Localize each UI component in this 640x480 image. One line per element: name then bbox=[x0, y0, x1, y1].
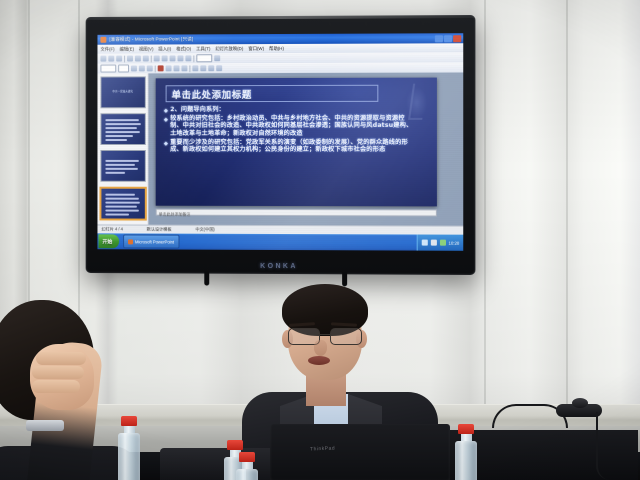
slide-bullet-2-text: 较系统的研究包括：乡村政治动员、中共与乡村地方社会、中共的资源提取与资源控制、中… bbox=[170, 115, 415, 137]
slide-bullet-1-text: 2、问题导向系列： bbox=[170, 106, 225, 113]
bottle-neck bbox=[461, 434, 472, 441]
finger bbox=[32, 366, 84, 379]
maximize-button[interactable] bbox=[444, 35, 452, 42]
slide-thumbnail-4[interactable] bbox=[99, 187, 146, 221]
undo-icon[interactable] bbox=[177, 55, 183, 61]
underline-icon[interactable] bbox=[147, 65, 153, 71]
save-icon[interactable] bbox=[116, 56, 122, 62]
windows-taskbar[interactable]: 开始 Microsoft PowerPoint 10:28 bbox=[97, 233, 463, 250]
menu-item-format[interactable]: 格式(O) bbox=[176, 46, 191, 52]
new-slide-button[interactable] bbox=[216, 65, 222, 71]
start-button-label: 开始 bbox=[102, 238, 112, 245]
finger bbox=[32, 380, 80, 393]
powerpoint-window-title: [兼容模式] - Microsoft PowerPoint [只读] bbox=[109, 36, 193, 42]
bottle-neck bbox=[124, 426, 135, 433]
slide-thumbnail-1-label: 中共一党独大研究 bbox=[101, 89, 144, 93]
listener-hand bbox=[30, 344, 94, 410]
spellcheck-icon[interactable] bbox=[143, 55, 149, 61]
font-size-combobox[interactable] bbox=[118, 64, 129, 72]
print-icon[interactable] bbox=[127, 56, 133, 62]
zoom-combobox[interactable] bbox=[196, 54, 212, 62]
slide-body-placeholder[interactable]: 2、问题导向系列： 较系统的研究包括：乡村政治动员、中共与乡村地方社会、中共的资… bbox=[165, 106, 415, 155]
toolbar-separator bbox=[193, 55, 194, 62]
toolbar-separator bbox=[151, 55, 152, 62]
tray-volume-icon[interactable] bbox=[421, 240, 427, 246]
slide-title-text: 单击此处添加标题 bbox=[172, 87, 252, 101]
bottle-cap bbox=[121, 416, 137, 426]
bullets-icon[interactable] bbox=[181, 65, 187, 71]
paste-icon[interactable] bbox=[170, 55, 176, 61]
minimize-button[interactable] bbox=[435, 35, 443, 42]
slide-thumbnail-3[interactable] bbox=[100, 150, 145, 182]
slide-bullet-2: 较系统的研究包括：乡村政治动员、中共与乡村地方社会、中共的资源提取与资源控制、中… bbox=[165, 115, 415, 137]
bottle-cap bbox=[227, 440, 243, 450]
slide-editor-area[interactable]: 单击此处添加标题 2、问题导向系列： 较系统的研究包括：乡村政治动员、中共与乡村… bbox=[149, 72, 463, 234]
slide-bullet-3-text: 重要而少涉及的研究包括：党政军关系的演变（如政委制的发展）、党的群众路线的形成、… bbox=[170, 139, 415, 154]
design-button[interactable] bbox=[208, 65, 214, 71]
slide-thumbnail-1[interactable]: 中共一党独大研究 bbox=[100, 76, 145, 108]
bold-icon[interactable] bbox=[131, 65, 137, 71]
decrease-font-icon[interactable] bbox=[200, 65, 206, 71]
taskbar-clock[interactable]: 10:28 bbox=[449, 240, 460, 245]
font-color-icon[interactable] bbox=[158, 65, 164, 71]
bottle-neck bbox=[242, 462, 253, 469]
tray-antivirus-icon[interactable] bbox=[439, 240, 445, 246]
status-design-template: 默认设计模板 bbox=[147, 227, 172, 233]
speaker-mouth bbox=[308, 356, 330, 365]
status-slide-counter: 幻灯片 4 / 4 bbox=[101, 226, 123, 232]
current-slide[interactable]: 单击此处添加标题 2、问题导向系列： 较系统的研究包括：乡村政治动员、中共与乡村… bbox=[156, 78, 437, 207]
screenshot-root: KONKA [兼容模式] - Microsoft PowerPoint [只读]… bbox=[0, 0, 640, 480]
increase-font-icon[interactable] bbox=[192, 65, 198, 71]
toolbar-separator bbox=[189, 65, 190, 72]
water-bottle bbox=[118, 416, 140, 480]
eyeglass-lens-right bbox=[330, 328, 362, 345]
bottle-cap bbox=[458, 424, 474, 434]
powerpoint-taskbar-icon bbox=[128, 239, 133, 244]
toolbar-separator bbox=[155, 65, 156, 72]
menu-item-view[interactable]: 视图(V) bbox=[139, 46, 153, 52]
toolbar-separator bbox=[124, 55, 125, 62]
notes-pane[interactable]: 单击此处添加备注 bbox=[156, 209, 437, 217]
system-tray[interactable]: 10:28 bbox=[416, 234, 463, 250]
start-button[interactable]: 开始 bbox=[98, 234, 119, 248]
print-preview-icon[interactable] bbox=[135, 56, 141, 62]
laptop-logo: ThinkPad bbox=[310, 446, 335, 453]
new-file-icon[interactable] bbox=[100, 56, 106, 62]
slide-bullet-1: 2、问题导向系列： bbox=[165, 106, 415, 114]
microphone-knob bbox=[572, 398, 588, 408]
tv-bezel-highlight bbox=[86, 15, 476, 20]
menu-item-slideshow[interactable]: 幻灯片放映(D) bbox=[215, 46, 243, 52]
menu-item-edit[interactable]: 编辑(E) bbox=[120, 46, 134, 52]
help-icon[interactable] bbox=[214, 55, 220, 61]
close-button[interactable] bbox=[453, 35, 461, 42]
status-language: 中文(中国) bbox=[195, 227, 214, 233]
laptop: ThinkPad bbox=[270, 424, 450, 480]
align-left-icon[interactable] bbox=[166, 65, 172, 71]
open-file-icon[interactable] bbox=[108, 56, 114, 62]
black-bag bbox=[160, 448, 280, 480]
bottle-cap bbox=[239, 452, 255, 462]
menu-item-tools[interactable]: 工具(T) bbox=[196, 46, 210, 52]
bullet-point-icon bbox=[164, 141, 168, 145]
notes-placeholder-text: 单击此处添加备注 bbox=[159, 212, 191, 217]
water-bottle bbox=[236, 452, 258, 480]
taskbar-item-label: Microsoft PowerPoint bbox=[135, 239, 174, 244]
menu-item-file[interactable]: 文件(F) bbox=[100, 46, 114, 52]
television: KONKA [兼容模式] - Microsoft PowerPoint [只读]… bbox=[86, 15, 476, 275]
eyeglass-bridge bbox=[318, 334, 330, 335]
menu-item-help[interactable]: 帮助(H) bbox=[269, 45, 284, 51]
slide-thumbnail-pane[interactable]: 中共一党独大研究 bbox=[97, 73, 148, 233]
bullet-point-icon bbox=[164, 109, 168, 113]
menu-item-window[interactable]: 窗口(W) bbox=[248, 46, 264, 52]
speaker-nose bbox=[314, 340, 327, 356]
window-buttons bbox=[435, 35, 463, 42]
bottle-body bbox=[455, 441, 477, 480]
slide-bullet-3: 重要而少涉及的研究包括：党政军关系的演变（如政委制的发展）、党的群众路线的形成、… bbox=[165, 139, 415, 154]
bottle-body bbox=[236, 469, 258, 480]
microphone-cable-trailing bbox=[596, 412, 620, 480]
align-center-icon[interactable] bbox=[174, 65, 180, 71]
taskbar-item-powerpoint[interactable]: Microsoft PowerPoint bbox=[123, 234, 179, 248]
cut-icon[interactable] bbox=[154, 55, 160, 61]
wristwatch bbox=[26, 420, 64, 431]
tv-brand-logo: KONKA bbox=[86, 262, 476, 271]
tray-network-icon[interactable] bbox=[430, 240, 436, 246]
powerpoint-workspace: 中共一党独大研究 bbox=[97, 72, 463, 234]
redo-icon[interactable] bbox=[185, 55, 191, 61]
slide-title-placeholder[interactable]: 单击此处添加标题 bbox=[166, 85, 379, 102]
bullet-point-icon bbox=[164, 117, 168, 121]
bottle-body bbox=[118, 433, 140, 480]
tv-screen: [兼容模式] - Microsoft PowerPoint [只读] 文件(F)… bbox=[97, 33, 463, 251]
font-name-combobox[interactable] bbox=[100, 65, 116, 73]
slide-thumbnail-2[interactable] bbox=[100, 113, 145, 145]
tv-mount-left bbox=[204, 272, 209, 286]
italic-icon[interactable] bbox=[139, 65, 145, 71]
menu-item-insert[interactable]: 插入(I) bbox=[158, 46, 171, 52]
finger bbox=[36, 352, 86, 365]
water-bottle bbox=[455, 424, 477, 480]
copy-icon[interactable] bbox=[162, 55, 168, 61]
powerpoint-app-icon bbox=[100, 37, 106, 43]
